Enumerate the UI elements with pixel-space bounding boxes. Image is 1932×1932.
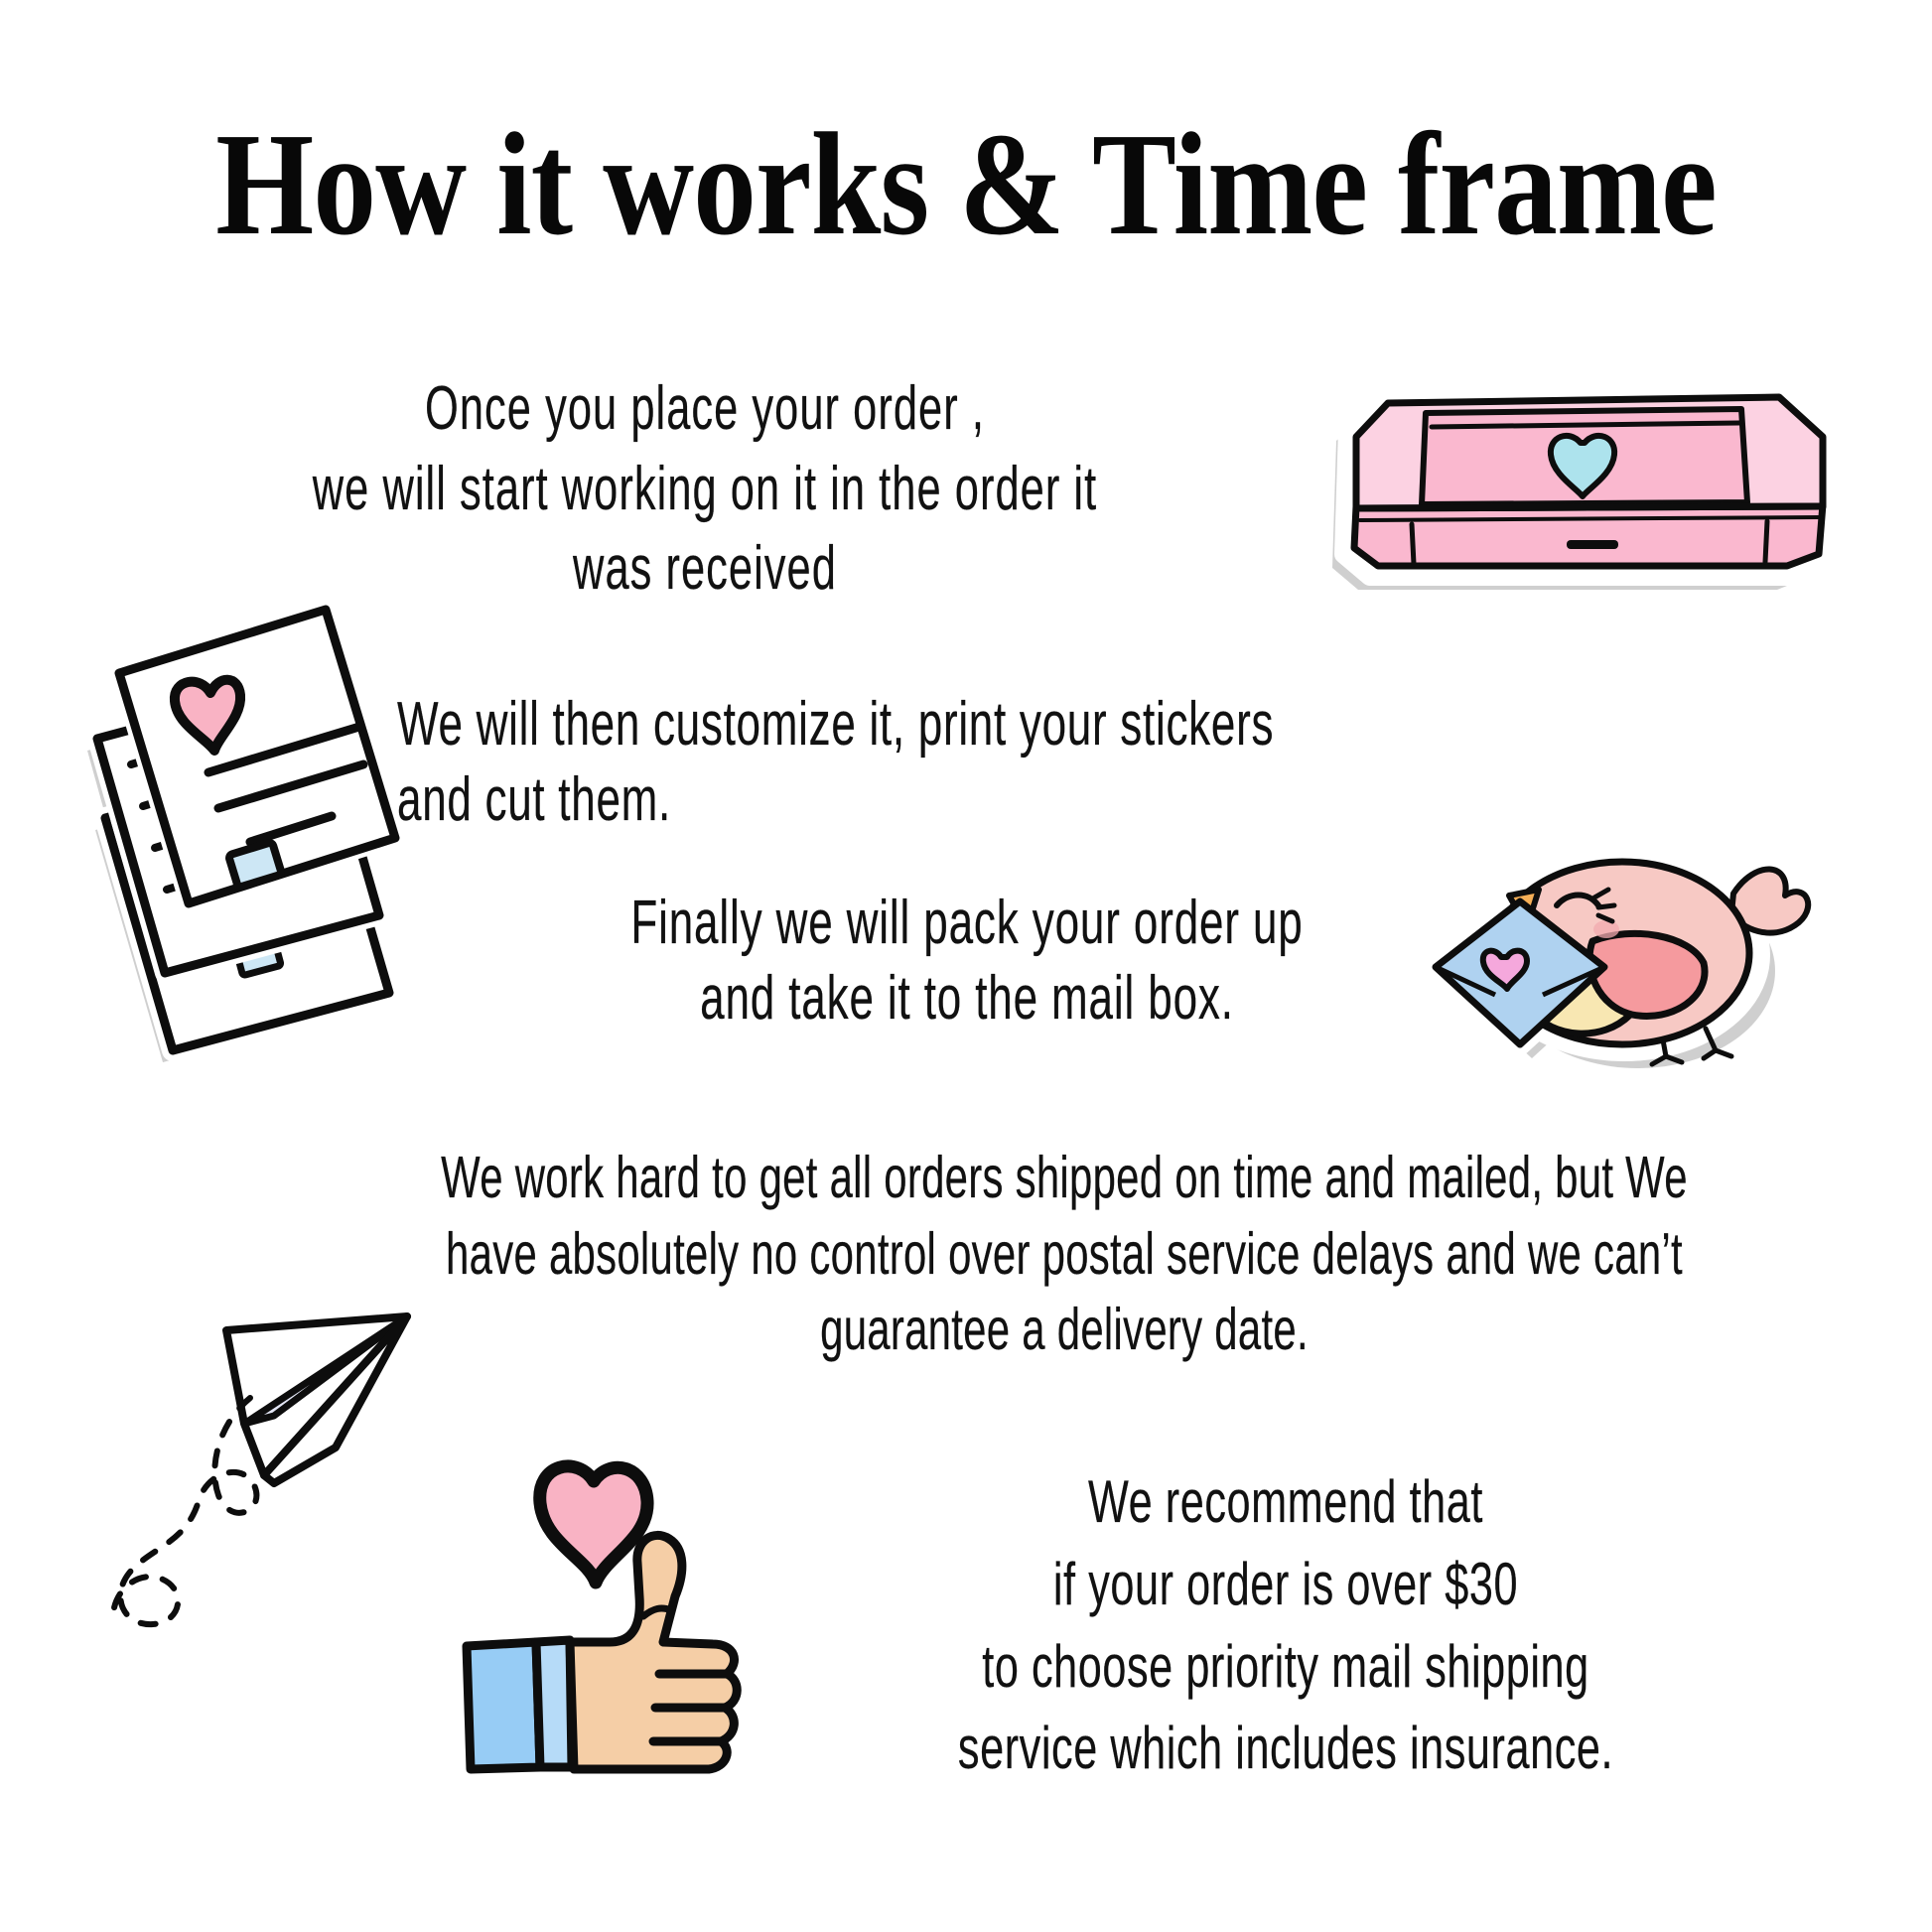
- disclaimer-paragraph: We work hard to get all orders shipped o…: [416, 1140, 1713, 1368]
- finally-paragraph: Finally we will pack your order up and t…: [551, 886, 1383, 1035]
- intro-paragraph: Once you place your order , we will star…: [309, 369, 1101, 610]
- flight-trail: [113, 1398, 256, 1624]
- heart-icon: [540, 1466, 647, 1583]
- sticker-sheets-sticker: [62, 592, 479, 1058]
- mail-bird-sticker: [1418, 820, 1827, 1096]
- paper-airplane-sticker: [69, 1299, 412, 1641]
- page-title: How it works & Time frame: [135, 111, 1797, 258]
- customize-paragraph: We will then customize it, print your st…: [397, 687, 1475, 837]
- poster-canvas: How it works & Time frame Once you place…: [0, 0, 1932, 1932]
- recommendation-paragraph: We recommend that if your order is over …: [861, 1461, 1712, 1790]
- cutting-machine-sticker: [1326, 365, 1853, 612]
- thumbs-up-sticker: [399, 1448, 796, 1872]
